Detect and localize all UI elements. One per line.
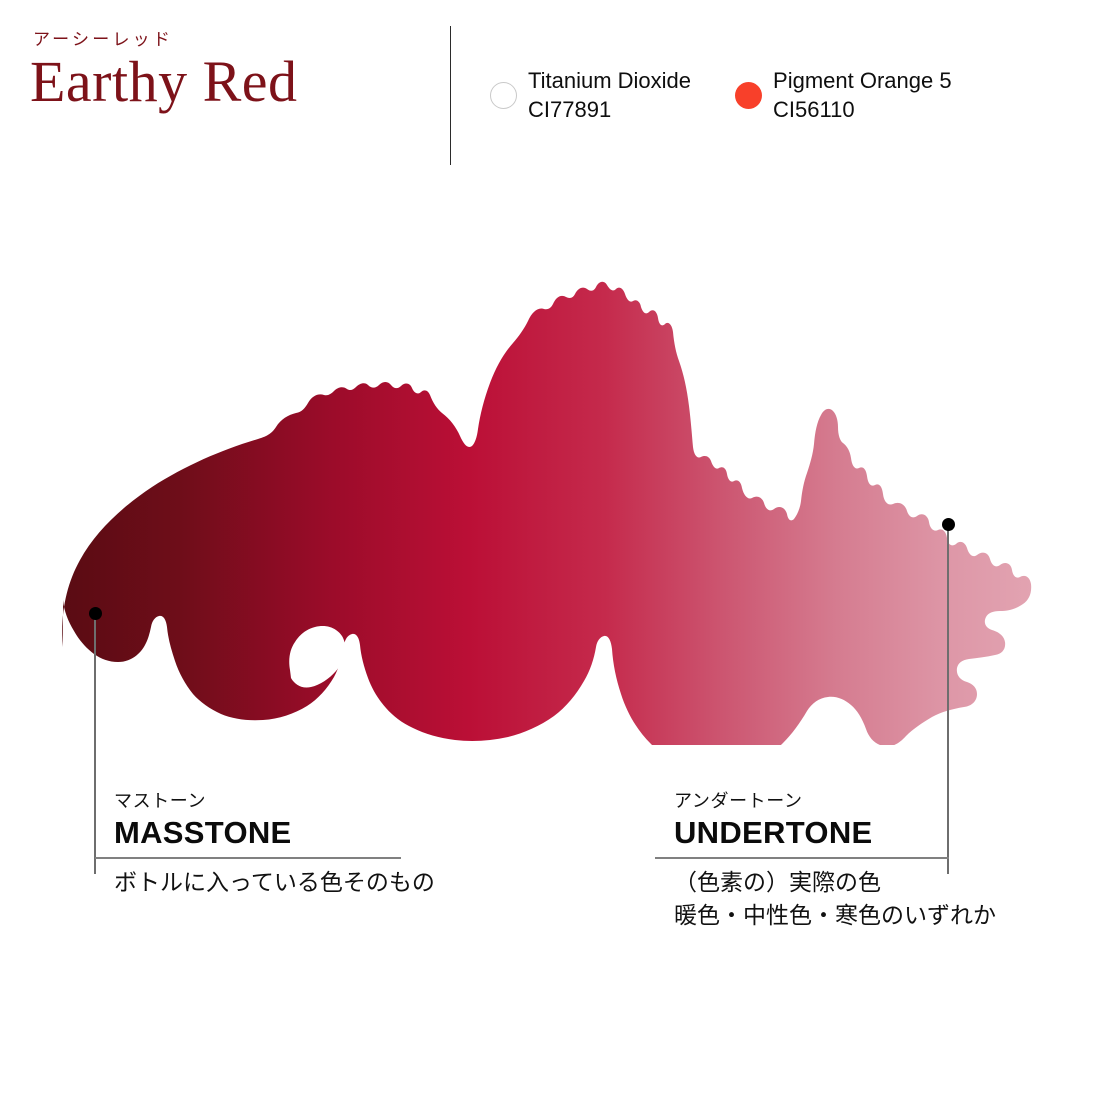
callout-desc-undertone-line-2: 暖色・中性色・寒色のいずれか <box>674 899 949 932</box>
callout-rule-masstone <box>95 857 401 859</box>
callout-rule-undertone <box>655 857 949 859</box>
pigment-code: CI77891 <box>528 97 611 122</box>
pigment-text: Pigment Orange 5 CI56110 <box>773 66 952 124</box>
swatch-region <box>0 255 1096 745</box>
callout-title-masstone: MASSTONE <box>114 814 401 851</box>
pigment-legend: Titanium Dioxide CI77891 Pigment Orange … <box>490 66 952 124</box>
title-block: アーシーレッド Earthy Red <box>30 30 430 113</box>
callout-undertone: アンダートーン UNDERTONE （色素の）実際の色 暖色・中性色・寒色のいず… <box>655 790 949 932</box>
pigment-text: Titanium Dioxide CI77891 <box>528 66 691 124</box>
pigment-item-titanium-dioxide[interactable]: Titanium Dioxide CI77891 <box>490 66 691 124</box>
callout-kana-undertone: アンダートーン <box>674 790 949 813</box>
brush-stroke-path <box>62 282 1031 745</box>
pigment-code: CI56110 <box>773 97 855 122</box>
callout-kana-masstone: マストーン <box>114 790 401 813</box>
page-title: Earthy Red <box>30 52 430 113</box>
callout-title-undertone: UNDERTONE <box>674 814 949 851</box>
header-vertical-divider <box>450 26 451 165</box>
paint-brush-stroke-swatch <box>0 255 1096 745</box>
callout-masstone: マストーン MASSTONE ボトルに入っている色そのもの <box>95 790 401 899</box>
pigment-name: Pigment Orange 5 <box>773 68 952 93</box>
callout-desc-masstone-line-1: ボトルに入っている色そのもの <box>114 866 401 899</box>
pigment-name: Titanium Dioxide <box>528 68 691 93</box>
callout-desc-undertone-line-1: （色素の）実際の色 <box>674 866 949 899</box>
color-name-kana: アーシーレッド <box>33 30 430 50</box>
pigment-item-pigment-orange-5[interactable]: Pigment Orange 5 CI56110 <box>735 66 952 124</box>
header: アーシーレッド Earthy Red Titanium Dioxide CI77… <box>0 0 1096 190</box>
pigment-dot-outline-icon <box>490 82 517 109</box>
pigment-dot-filled-icon <box>735 82 762 109</box>
